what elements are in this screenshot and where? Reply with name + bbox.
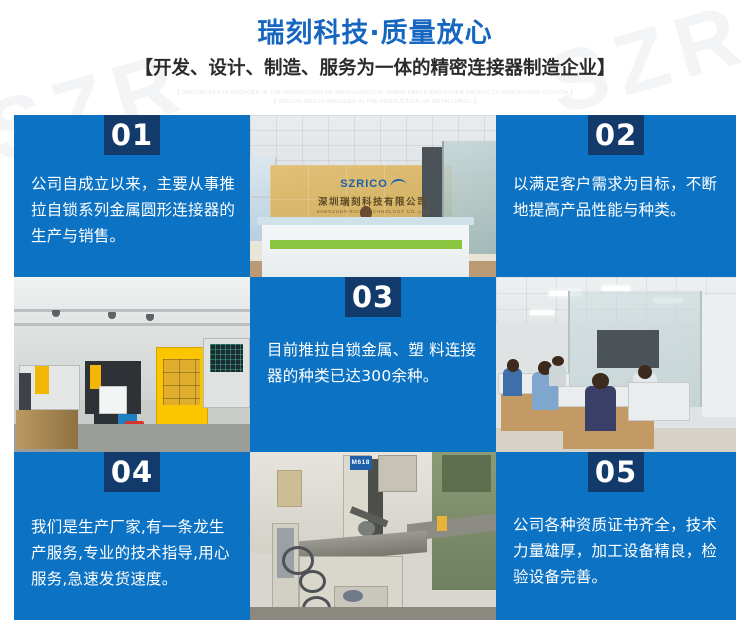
desk-green-stripe [270,240,462,250]
feature-text-02: 以满足客户需求为目标，不断地提高产品性能与种类。 [513,171,722,223]
logo-text: SZRICO [340,178,388,190]
english-tagline-1: 【 SPECIALIZED IS ENGAGED IN THE PRODUCTI… [0,89,750,98]
desk-partition [628,382,690,421]
feature-number-04: 04 [104,452,160,492]
swoosh-icon [389,178,406,187]
promo-page: SZR SZR 瑞刻科技·质量放心 【开发、设计、制造、服务为一体的精密连接器制… [0,0,750,633]
wall-notice [277,470,302,507]
grinder-head-unit [378,455,417,492]
szrico-logo-icon: SZRICO [340,178,406,190]
whiteboard [597,330,659,369]
feature-text-01: 公司自成立以来，主要从事推拉自锁系列金属圆形连接器的生产与销售。 [31,171,236,249]
feature-cell-01: 01 公司自成立以来，主要从事推拉自锁系列金属圆形连接器的生产与销售。 [14,115,250,277]
auxiliary-unit [99,386,127,414]
feature-text-04: 我们是生产厂家,有一条龙生产服务,专业的技术指导,用心服务,急速发货速度。 [31,514,236,592]
right-wall [702,295,736,418]
milling-head [442,455,491,492]
grinding-disc [343,590,363,602]
wood-pallet-stack [16,410,77,449]
feature-cell-03: 03 目前推拉自锁金属、塑 料连接器的种类已达300余种。 [250,277,496,452]
handwheel-icon [299,570,326,594]
machine-window [163,359,201,405]
feature-number-01: 01 [104,115,160,155]
floor [250,607,496,620]
desk-top [257,217,473,225]
feature-text-03: 目前推拉自锁金属、塑 料连接器的种类已达300余种。 [267,337,482,389]
page-header: 瑞刻科技·质量放心 【开发、设计、制造、服务为一体的精密连接器制造企业】 【 S… [0,0,750,107]
open-office-photo [496,277,736,452]
employee [549,365,566,386]
feature-cell-04: 04 我们是生产厂家,有一条龙生产服务,专业的技术指导,用心服务,急速发货速度。 [14,452,250,620]
surface-grinder-photo: M618 [250,452,496,620]
feature-text-05: 公司各种资质证书齐全，技术力量雄厚，加工设备精良，检验设备完善。 [513,512,722,590]
ceiling-beam [14,309,250,312]
employee-head [592,373,609,389]
english-tagline-2: 【 SPECIALIZED IS ENGAGED IN THE PRODUCTI… [0,98,750,107]
cnc-workshop-photo [14,277,250,452]
machine-label: M618 [350,456,372,469]
feature-cell-02: 02 以满足客户需求为目标，不断地提高产品性能与种类。 [496,115,736,277]
employee-head [507,359,519,371]
ceiling-light-icon [602,286,631,291]
oil-bottle [437,516,447,531]
employee-head [638,365,652,379]
feature-cell-05: 05 公司各种资质证书齐全，技术力量雄厚，加工设备精良，检验设备完善。 [496,452,736,620]
page-title: 瑞刻科技·质量放心 [0,17,750,51]
feature-number-03: 03 [345,277,401,317]
feature-number-02: 02 [588,115,644,155]
ceiling-light-icon [530,310,554,315]
feature-number-05: 05 [588,452,644,492]
cnc-screen [210,344,243,372]
employee [503,368,522,396]
reception-office-photo: SZRICO 深圳瑞刻科技有限公司 SHENZHEN RICO TECHNOLO… [250,115,496,277]
feature-grid: 01 公司自成立以来，主要从事推拉自锁系列金属圆形连接器的生产与销售。 SZRI… [14,115,736,620]
page-subtitle: 【开发、设计、制造、服务为一体的精密连接器制造企业】 [0,56,750,82]
lamp-icon [146,314,154,321]
employee [585,386,616,432]
lathe-control-box [35,366,49,394]
